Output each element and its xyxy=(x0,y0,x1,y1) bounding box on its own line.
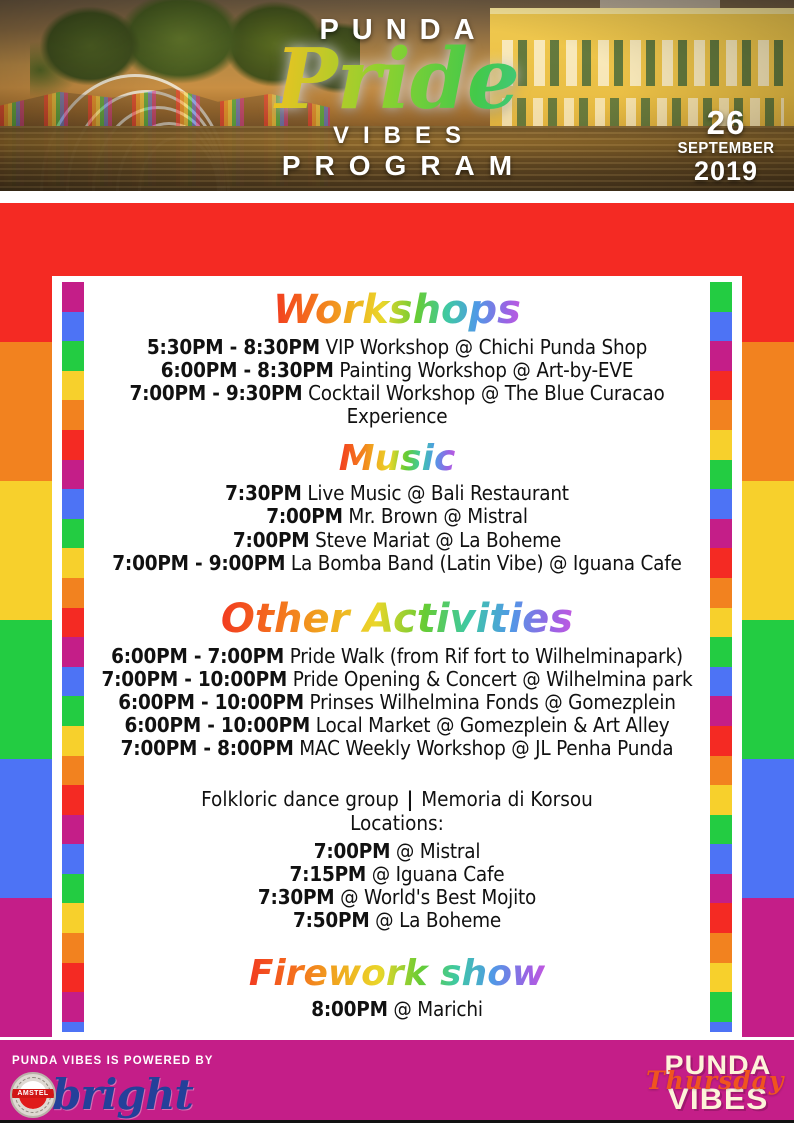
entry-time: 7:00PM - 10:00PM xyxy=(101,667,287,691)
program-entry: 7:00PM Steve Mariat @ La Boheme xyxy=(90,529,704,552)
program-entry: 8:00PM @ Marichi xyxy=(90,998,704,1021)
stripe-right-square xyxy=(710,726,732,756)
event-date-month: SEPTEMBER xyxy=(678,141,775,157)
entry-time: 7:00PM - 9:30PM xyxy=(129,381,302,405)
program-entry: 7:00PM - 9:00PM La Bomba Band (Latin Vib… xyxy=(90,552,704,575)
stripe-right-square xyxy=(710,667,732,697)
stripe-right-square xyxy=(710,963,732,993)
stripe-left-square xyxy=(62,992,84,1022)
stripe-right-square xyxy=(710,637,732,667)
stripe-right-square xyxy=(710,992,732,1022)
entry-list-firework: 8:00PM @ Marichi xyxy=(90,998,704,1021)
entry-time: 7:30PM xyxy=(258,885,335,909)
program-card: Workshops 5:30PM - 8:30PM VIP Workshop @… xyxy=(52,276,742,1038)
entry-time: 7:15PM xyxy=(290,862,367,886)
entry-list-folkloric: 7:00PM @ Mistral7:15PM @ Iguana Cafe7:30… xyxy=(90,840,704,933)
stripe-right-square xyxy=(710,844,732,874)
stripe-left-square xyxy=(62,903,84,933)
entry-detail: @ Marichi xyxy=(388,997,483,1021)
stripe-right-square xyxy=(710,312,732,342)
stripe-right-square xyxy=(710,608,732,638)
stripe-right-square xyxy=(710,756,732,786)
stripe-right-square xyxy=(710,785,732,815)
stripe-left-square xyxy=(62,312,84,342)
stripe-left-square xyxy=(62,667,84,697)
program-entry: 6:00PM - 10:00PM Prinses Wilhelmina Fond… xyxy=(90,691,704,714)
stripe-right-square xyxy=(710,696,732,726)
entry-time: 6:00PM - 10:00PM xyxy=(124,713,310,737)
entry-detail: @ La Boheme xyxy=(370,908,501,932)
program-entry: 7:15PM @ Iguana Cafe xyxy=(90,863,704,886)
program-entry: 6:00PM - 10:00PM Local Market @ Gomezple… xyxy=(90,714,704,737)
stripe-right-square xyxy=(710,933,732,963)
stripe-right-square xyxy=(710,282,732,312)
folkloric-dance-block: Folkloric dance group | Memoria di Korso… xyxy=(90,787,704,933)
entry-time: 7:00PM xyxy=(233,528,310,552)
entry-detail: Prinses Wilhelmina Fonds @ Gomezplein xyxy=(304,690,676,714)
entry-detail: Pride Opening & Concert @ Wilhelmina par… xyxy=(287,667,692,691)
entry-time: 5:30PM - 8:30PM xyxy=(147,335,320,359)
entry-time: 7:00PM - 9:00PM xyxy=(112,551,285,575)
folkloric-title-right: Memoria di Korsou xyxy=(415,787,592,811)
stripe-left-square xyxy=(62,282,84,312)
stripe-right-square xyxy=(710,815,732,845)
stripe-left-square xyxy=(62,460,84,490)
stripe-right-square xyxy=(710,460,732,490)
entry-time: 7:00PM - 8:00PM xyxy=(121,736,294,760)
event-date-block: 26 SEPTEMBER 2019 xyxy=(674,106,778,185)
rainbow-stripe-right xyxy=(710,282,732,1032)
entry-detail: VIP Workshop @ Chichi Punda Shop xyxy=(320,335,647,359)
sponsor-logo-group: AMSTEL bright xyxy=(10,1072,193,1118)
stripe-right-square xyxy=(710,903,732,933)
stripe-left-square xyxy=(62,489,84,519)
entry-time: 6:00PM - 10:00PM xyxy=(118,690,304,714)
program-entry: 7:00PM - 9:30PM Cocktail Workshop @ The … xyxy=(90,382,704,428)
rainbow-stripe-left xyxy=(62,282,84,1032)
amstel-wordmark: AMSTEL xyxy=(12,1089,54,1098)
stripe-left-square xyxy=(62,430,84,460)
stripe-left-square xyxy=(62,578,84,608)
entry-time: 7:00PM xyxy=(314,839,391,863)
stripe-left-square xyxy=(62,400,84,430)
stripe-left-square xyxy=(62,371,84,401)
powered-by-label: PUNDA VIBES IS POWERED BY xyxy=(12,1055,214,1067)
program-entry: 5:30PM - 8:30PM VIP Workshop @ Chichi Pu… xyxy=(90,336,704,359)
entry-time: 6:00PM - 8:30PM xyxy=(161,358,334,382)
entry-detail: Local Market @ Gomezplein & Art Alley xyxy=(310,713,669,737)
pv-logo-thursday: Thursday xyxy=(646,1066,784,1095)
footer-bar: PUNDA VIBES IS POWERED BY AMSTEL bright … xyxy=(0,1040,794,1120)
punda-vibes-logo: PUNDA Thursday VIBES xyxy=(652,1046,784,1116)
entry-detail: @ World's Best Mojito xyxy=(334,885,536,909)
folkloric-locations-label: Locations: xyxy=(90,811,704,836)
entry-detail: Painting Workshop @ Art-by-EVE xyxy=(334,358,634,382)
program-entry: 7:00PM Mr. Brown @ Mistral xyxy=(90,505,704,528)
folkloric-title-separator: | xyxy=(405,787,416,811)
stripe-left-square xyxy=(62,1022,84,1032)
event-date-year: 2019 xyxy=(674,158,778,185)
section-heading-workshops: Workshops xyxy=(273,288,521,332)
stripe-left-square xyxy=(62,963,84,993)
stripe-right-square xyxy=(710,489,732,519)
entry-detail: La Bomba Band (Latin Vibe) @ Iguana Cafe xyxy=(285,551,681,575)
entry-time: 7:50PM xyxy=(293,908,370,932)
entry-detail: Live Music @ Bali Restaurant xyxy=(302,481,569,505)
stripe-right-square xyxy=(710,341,732,371)
stripe-right-square xyxy=(710,578,732,608)
program-entry: 7:00PM - 8:00PM MAC Weekly Workshop @ JL… xyxy=(90,737,704,760)
stripe-left-square xyxy=(62,726,84,756)
stripe-right-square xyxy=(710,548,732,578)
stripe-left-square xyxy=(62,519,84,549)
stripe-left-square xyxy=(62,874,84,904)
bright-wordmark: bright xyxy=(52,1074,193,1116)
stripe-left-square xyxy=(62,696,84,726)
section-heading-firework: Firework show xyxy=(249,954,545,994)
program-entry: 7:30PM @ World's Best Mojito xyxy=(90,886,704,909)
stripe-left-square xyxy=(62,815,84,845)
stripe-left-square xyxy=(62,844,84,874)
stripe-left-square xyxy=(62,608,84,638)
entry-list-workshops: 5:30PM - 8:30PM VIP Workshop @ Chichi Pu… xyxy=(90,336,704,429)
stripe-left-square xyxy=(62,637,84,667)
stripe-left-square xyxy=(62,341,84,371)
stripe-right-square xyxy=(710,371,732,401)
amstel-logo-icon: AMSTEL xyxy=(10,1072,56,1118)
stripe-right-square xyxy=(710,1022,732,1032)
entry-detail: @ Iguana Cafe xyxy=(366,862,504,886)
program-entry: 7:50PM @ La Boheme xyxy=(90,909,704,932)
entry-detail: MAC Weekly Workshop @ JL Penha Punda xyxy=(294,736,674,760)
stripe-right-square xyxy=(710,519,732,549)
entry-time: 6:00PM - 7:00PM xyxy=(111,644,284,668)
program-entry: 6:00PM - 8:30PM Painting Workshop @ Art-… xyxy=(90,359,704,382)
event-date-day: 26 xyxy=(674,106,778,139)
folkloric-title: Folkloric dance group | Memoria di Korso… xyxy=(90,787,704,812)
entry-detail: Steve Mariat @ La Boheme xyxy=(309,528,561,552)
entry-detail: Pride Walk (from Rif fort to Wilhelminap… xyxy=(284,644,683,668)
entry-time: 7:30PM xyxy=(225,481,302,505)
stripe-left-square xyxy=(62,756,84,786)
entry-time: 7:00PM xyxy=(266,504,343,528)
section-heading-other-activities: Other Activities xyxy=(221,597,573,641)
stripe-left-square xyxy=(62,548,84,578)
program-entry: 7:00PM - 10:00PM Pride Opening & Concert… xyxy=(90,668,704,691)
program-entry: 7:00PM @ Mistral xyxy=(90,840,704,863)
section-heading-music: Music xyxy=(339,439,456,479)
stripe-right-square xyxy=(710,430,732,460)
entry-detail: Cocktail Workshop @ The Blue Curacao Exp… xyxy=(302,381,664,428)
stripe-left-square xyxy=(62,785,84,815)
entry-detail: Mr. Brown @ Mistral xyxy=(343,504,528,528)
entry-detail: @ Mistral xyxy=(390,839,480,863)
stripe-right-square xyxy=(710,874,732,904)
program-content: Workshops 5:30PM - 8:30PM VIP Workshop @… xyxy=(84,282,710,1032)
program-entry: 7:30PM Live Music @ Bali Restaurant xyxy=(90,482,704,505)
entry-list-other-activities: 6:00PM - 7:00PM Pride Walk (from Rif for… xyxy=(90,645,704,761)
program-entry: 6:00PM - 7:00PM Pride Walk (from Rif for… xyxy=(90,645,704,668)
stripe-left-square xyxy=(62,933,84,963)
entry-time: 8:00PM xyxy=(311,997,388,1021)
stripe-right-square xyxy=(710,400,732,430)
folkloric-title-left: Folkloric dance group xyxy=(201,787,405,811)
entry-list-music: 7:30PM Live Music @ Bali Restaurant7:00P… xyxy=(90,482,704,575)
